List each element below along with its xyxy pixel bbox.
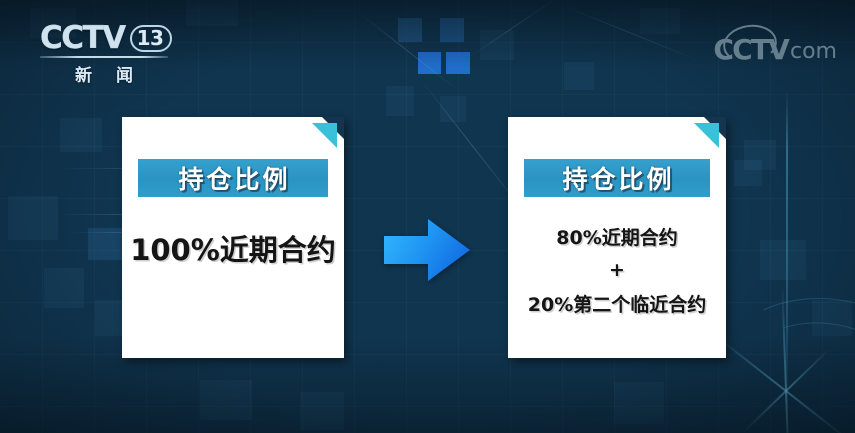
folded-corner-icon: [694, 123, 719, 148]
card-left: 持仓比例 100%近期合约: [122, 117, 344, 358]
cctv-com-watermark: CCTV com: [713, 36, 837, 64]
card-right-banner: 持仓比例: [524, 159, 710, 197]
card-right-line-1: 80%近期合约: [556, 223, 677, 250]
broadcast-graphic-screen: CCTV 13 新 闻 CCTV com 持仓比例 100%近期合约: [0, 0, 855, 433]
card-right-line-3: 20%第二个临近合约: [528, 290, 706, 317]
card-right-body: 80%近期合约 + 20%第二个临近合约: [508, 215, 726, 325]
right-arrow-icon: [384, 219, 470, 281]
watermark-suffix: com: [790, 41, 837, 63]
card-right-plus-sign: +: [609, 259, 625, 281]
channel-number-badge: 13: [130, 25, 173, 52]
logo-underline: [40, 56, 168, 58]
card-left-line-1: 100%近期合约: [130, 227, 336, 269]
card-right-banner-title: 持仓比例: [559, 160, 674, 196]
cctv-wordmark: CCTV: [40, 23, 125, 54]
cctv13-logo: CCTV 13 新 闻: [40, 22, 172, 80]
card-left-banner-title: 持仓比例: [175, 160, 290, 196]
channel-name-label: 新 闻: [40, 61, 168, 86]
channel-number: 13: [137, 28, 164, 48]
card-left-banner: 持仓比例: [138, 159, 328, 197]
card-right: 持仓比例 80%近期合约 + 20%第二个临近合约: [508, 117, 726, 358]
folded-corner-icon: [312, 123, 337, 148]
card-left-body: 100%近期合约: [122, 212, 344, 284]
